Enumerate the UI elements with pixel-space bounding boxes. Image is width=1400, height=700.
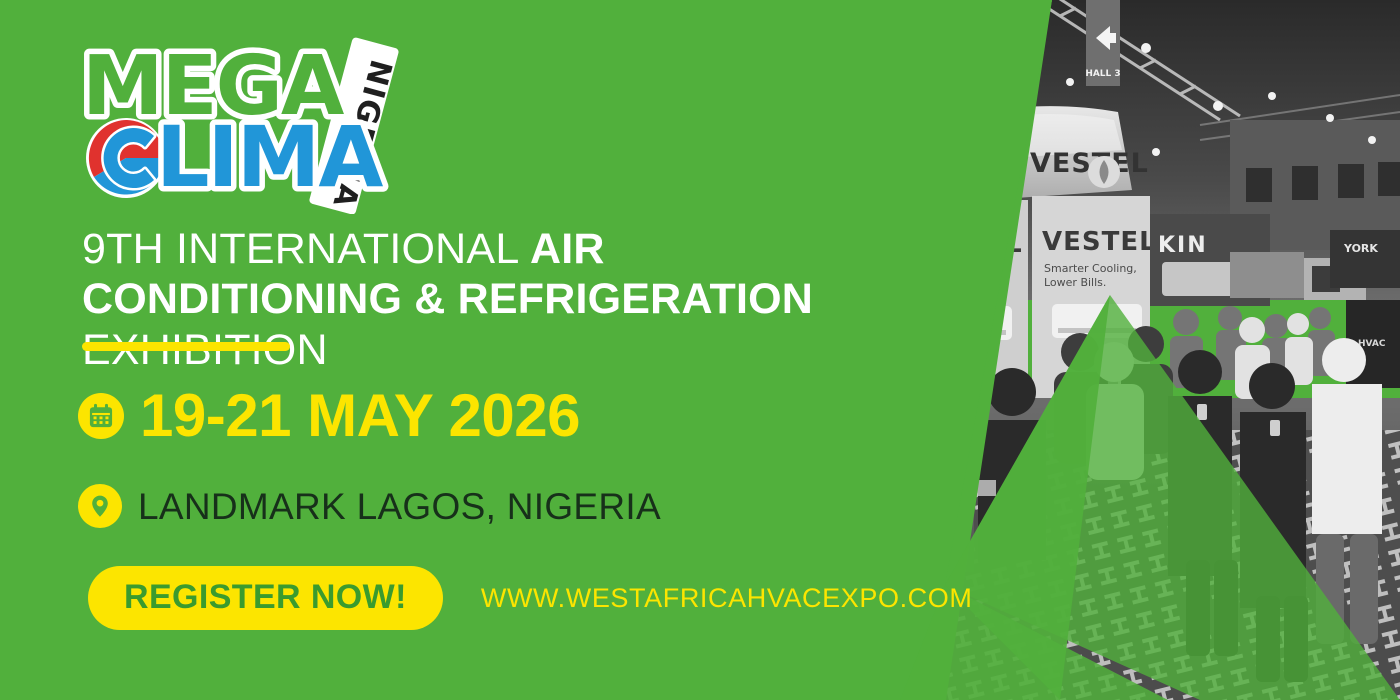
svg-text:Smarter Cooling,: Smarter Cooling, bbox=[1044, 262, 1137, 275]
event-date-row: 19-21 MAY 2026 bbox=[78, 386, 580, 446]
website-url-link[interactable]: WWW.WESTAFRICAHVACEXPO.COM bbox=[481, 585, 973, 612]
map-pin-icon bbox=[78, 484, 122, 528]
logo-word-clima: LIMA bbox=[156, 108, 383, 206]
svg-text:Lower Bills.: Lower Bills. bbox=[910, 278, 972, 291]
cta-row: REGISTER NOW! WWW.WESTAFRICAHVACEXPO.COM bbox=[88, 566, 972, 630]
exhibition-photo-image: HALL 3 VESTEL VESTEL Smarter Cooling, Lo… bbox=[900, 0, 1400, 700]
svg-text:VESTEL: VESTEL bbox=[1042, 227, 1157, 257]
svg-text:VESTEL: VESTEL bbox=[908, 229, 1023, 259]
event-date: 19-21 MAY 2026 bbox=[140, 386, 580, 446]
svg-text:HVAC: HVAC bbox=[1358, 339, 1386, 349]
exhibition-photo: HALL 3 VESTEL VESTEL Smarter Cooling, Lo… bbox=[900, 0, 1400, 700]
accent-divider bbox=[82, 342, 290, 351]
mega-clima-logo-icon: NIGERIA MEGA LIMA bbox=[78, 34, 438, 214]
calendar-icon bbox=[78, 393, 124, 439]
svg-text:Lower Bills.: Lower Bills. bbox=[1044, 276, 1106, 289]
page-title: 9TH INTERNATIONAL AIR CONDITIONING & REF… bbox=[82, 224, 912, 375]
event-location-row: LANDMARK LAGOS, NIGERIA bbox=[78, 484, 661, 528]
register-now-button[interactable]: REGISTER NOW! bbox=[88, 566, 443, 630]
headline-lead: 9TH INTERNATIONAL bbox=[82, 225, 530, 273]
mega-clima-logo: NIGERIA MEGA LIMA bbox=[78, 34, 438, 214]
svg-text:YORK: YORK bbox=[1343, 242, 1378, 255]
svg-text:KIN: KIN bbox=[1158, 233, 1208, 258]
svg-text:Smarter Cooling,: Smarter Cooling, bbox=[910, 264, 1003, 277]
svg-text:HALL 3: HALL 3 bbox=[1085, 69, 1120, 79]
promo-banner: HALL 3 VESTEL VESTEL Smarter Cooling, Lo… bbox=[0, 0, 1400, 700]
event-location: LANDMARK LAGOS, NIGERIA bbox=[138, 488, 661, 525]
